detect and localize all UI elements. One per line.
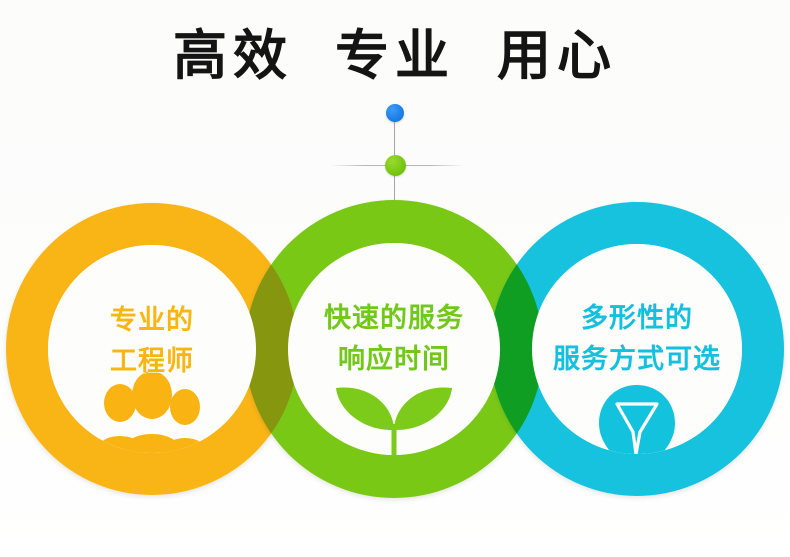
- circle-hole-cyan: [532, 244, 742, 454]
- circle-hole-orange: [48, 245, 256, 453]
- venn-rings: [0, 0, 790, 557]
- infographic-canvas: 高效专业用心: [0, 0, 790, 557]
- circle-hole-green: [288, 243, 500, 455]
